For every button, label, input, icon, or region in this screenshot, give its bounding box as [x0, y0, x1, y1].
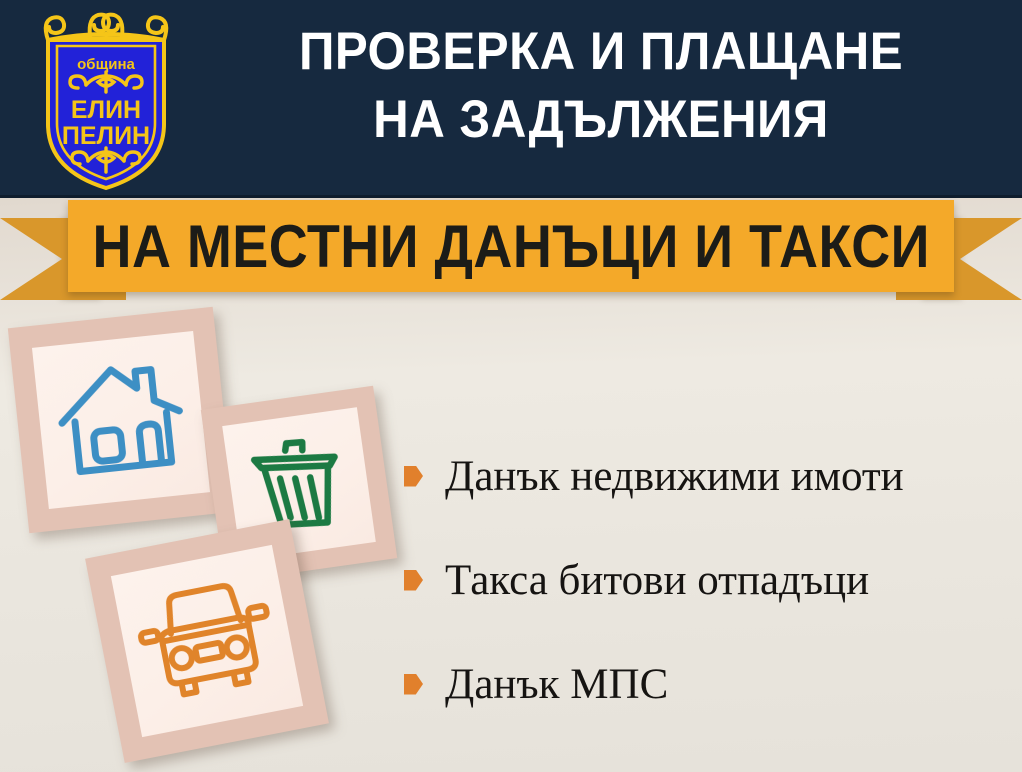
trash-can-icon: [239, 423, 356, 540]
arrow-bullet-icon: [404, 466, 423, 487]
stamp-vehicle: [85, 519, 329, 763]
list-item: Данък МПС: [404, 632, 1014, 736]
poster-root: община ЕЛИН ПЕЛИН ПРОВЕРКА И ПЛАЩАНЕ Н: [0, 0, 1022, 772]
ribbon-center-panel: НА МЕСТНИ ДАНЪЦИ И ТАКСИ: [68, 200, 954, 292]
municipality-logo: община ЕЛИН ПЕЛИН: [32, 6, 180, 192]
stamp-property: [8, 307, 234, 533]
tax-list: Данък недвижими имоти Такса битови отпад…: [404, 424, 1014, 736]
tax-list-label: Такса битови отпадъци: [445, 559, 869, 602]
page-title: ПРОВЕРКА И ПЛАЩАНЕ НА ЗАДЪЛЖЕНИЯ: [215, 18, 987, 155]
ribbon-subtitle: НА МЕСТНИ ДАНЪЦИ И ТАКСИ: [92, 212, 929, 281]
ribbon: НА МЕСТНИ ДАНЪЦИ И ТАКСИ: [0, 196, 1022, 304]
list-item: Такса битови отпадъци: [404, 528, 1014, 632]
house-icon: [50, 353, 192, 486]
tax-list-label: Данък МПС: [445, 663, 668, 706]
list-item: Данък недвижими имоти: [404, 424, 1014, 528]
arrow-bullet-icon: [404, 570, 423, 591]
arrow-bullet-icon: [404, 674, 423, 695]
tax-list-label: Данък недвижими имоти: [445, 455, 904, 498]
logo-line2: ПЕЛИН: [62, 122, 150, 150]
logo-line1: ЕЛИН: [71, 96, 141, 124]
